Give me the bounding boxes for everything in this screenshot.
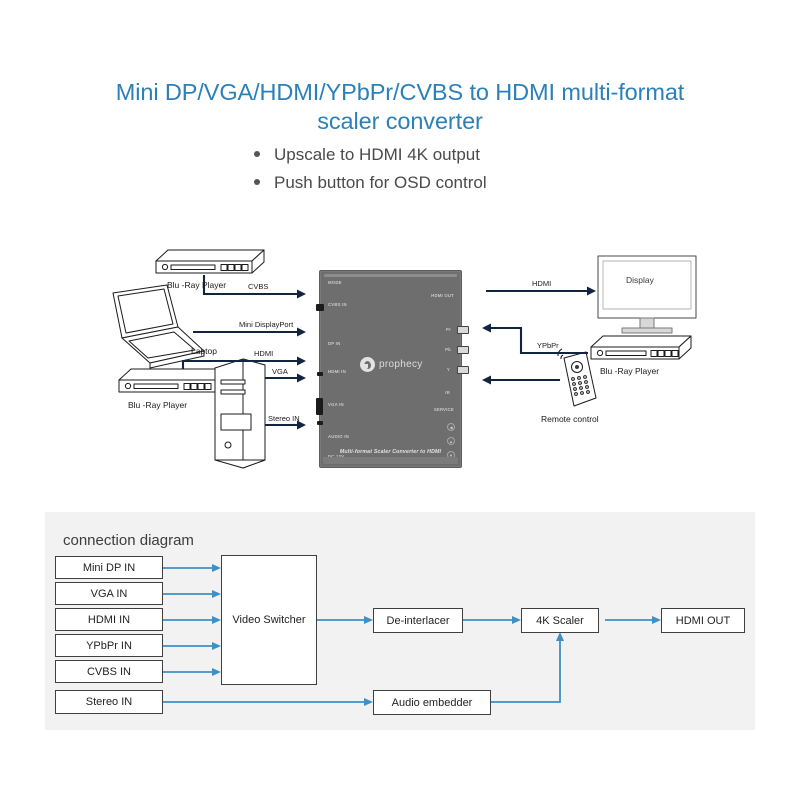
connection-label-hdmi-in: HDMI	[254, 349, 273, 358]
box-4k-scaler: 4K Scaler	[521, 608, 599, 633]
scaler-unit: MODE CVBS IN DP IN HDMI IN VGA IN AUDIO …	[319, 270, 462, 468]
prophecy-wordmark: prophecy	[379, 359, 423, 370]
box-video-switcher: Video Switcher	[221, 555, 317, 685]
port-label-pb: Pb	[445, 347, 451, 352]
remote-control-icon	[558, 349, 596, 406]
prophecy-mark-icon	[360, 357, 375, 372]
bullet-dot-icon	[254, 179, 260, 185]
device-label-bluray-right: Blu -Ray Player	[600, 366, 659, 376]
connector-y	[457, 366, 469, 374]
port-label-ir: IR	[445, 390, 450, 395]
bullet-dot-icon	[254, 151, 260, 157]
port-label-pr: Pr	[446, 327, 451, 332]
connection-diagram-panel: connection diagram	[45, 512, 755, 730]
connection-label-hdmi-out: HDMI	[532, 279, 551, 288]
port-label-audio-in: AUDIO IN	[328, 434, 349, 439]
connection-label-ypbpr: YPbPr	[537, 341, 559, 350]
port-label-mode: MODE	[328, 280, 342, 285]
box-input-mini-dp: Mini DP IN	[55, 556, 163, 579]
port-label-hdmi-out: HDMI OUT	[431, 293, 454, 298]
list-item: Upscale to HDMI 4K output	[252, 142, 672, 167]
port-label-cvbs-in: CVBS IN	[328, 302, 347, 307]
pc-tower-icon	[215, 359, 265, 468]
port-label-hdmi-in: HDMI IN	[328, 369, 346, 374]
unit-top-strip	[324, 274, 457, 277]
box-input-hdmi: HDMI IN	[55, 608, 163, 631]
port-label-y: Y	[447, 367, 450, 372]
list-item: Push button for OSD control	[252, 170, 672, 195]
box-input-cvbs: CVBS IN	[55, 660, 163, 683]
button-up[interactable]: ▲	[447, 437, 455, 445]
bullet-label: Upscale to HDMI 4K output	[274, 145, 480, 164]
display-icon	[598, 256, 696, 333]
box-input-stereo: Stereo IN	[55, 690, 163, 714]
connection-label-stereo-in: Stereo IN	[268, 414, 300, 423]
page-title-line1: Mini DP/VGA/HDMI/YPbPr/CVBS to HDMI mult…	[116, 79, 684, 105]
product-diagram-page: Mini DP/VGA/HDMI/YPbPr/CVBS to HDMI mult…	[0, 0, 800, 800]
port-label-dp-in: DP IN	[328, 341, 340, 346]
device-label-display: Display	[626, 275, 654, 285]
port-label-service: SERVICE	[434, 407, 454, 412]
box-audio-embedder: Audio embedder	[373, 690, 491, 715]
box-de-interlacer: De-interlacer	[373, 608, 463, 633]
bluray-left-icon	[119, 369, 227, 392]
unit-bottom-strip	[323, 457, 458, 464]
connection-label-vga: VGA	[272, 367, 288, 376]
unit-tagline: Multi-format Scaler Converter to HDMI	[320, 449, 461, 455]
connector-vga	[316, 398, 323, 415]
box-input-vga: VGA IN	[55, 582, 163, 605]
page-title: Mini DP/VGA/HDMI/YPbPr/CVBS to HDMI mult…	[0, 78, 800, 136]
connector-cvbs	[316, 304, 324, 311]
connector-pb	[457, 346, 469, 354]
device-label-remote: Remote control	[541, 414, 599, 424]
connection-label-minidp: Mini DisplayPort	[239, 320, 293, 329]
bluray-right-icon	[591, 336, 691, 359]
feature-bullet-list: Upscale to HDMI 4K output Push button fo…	[252, 142, 672, 198]
port-label-vga-in: VGA IN	[328, 402, 344, 407]
connector-pr	[457, 326, 469, 334]
connector-hdmi	[317, 372, 323, 376]
page-title-line2: scaler converter	[0, 107, 800, 136]
prophecy-logo: prophecy	[360, 357, 423, 372]
connector-audio	[317, 421, 323, 425]
connection-label-cvbs: CVBS	[248, 282, 268, 291]
button-left[interactable]: ◀	[447, 423, 455, 431]
device-label-laptop: Laptop	[191, 346, 217, 356]
bluray-top-icon	[156, 250, 264, 273]
box-hdmi-out: HDMI OUT	[661, 608, 745, 633]
bullet-label: Push button for OSD control	[274, 173, 487, 192]
device-label-bluray-left: Blu -Ray Player	[128, 400, 187, 410]
box-input-ypbpr: YPbPr IN	[55, 634, 163, 657]
device-label-bluray-top: Blu -Ray Player	[167, 280, 226, 290]
